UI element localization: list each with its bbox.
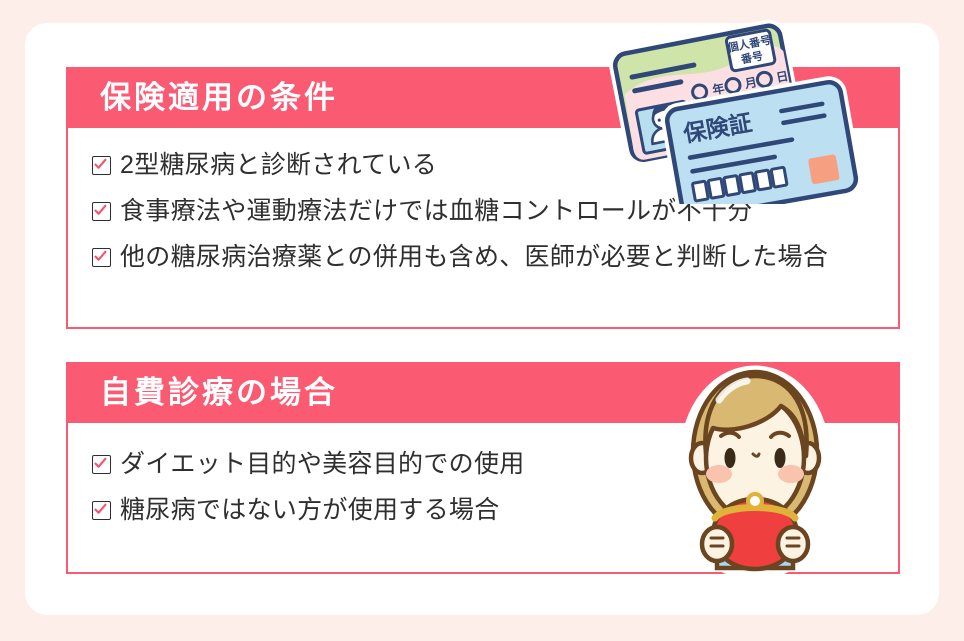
checkbox-checked-icon [92,501,111,520]
list-item-label: 他の糖尿病治療薬との併用も含め、医師が必要と判断した場合 [120,245,828,270]
list-item-label: ダイエット目的や美容目的での使用 [120,452,525,477]
svg-text:月: 月 [743,75,758,91]
checkbox-checked-icon [92,156,111,175]
checkbox-checked-icon [92,248,111,267]
section-title-selfpay: 自費診療の場合 [66,377,338,408]
list-item: 他の糖尿病治療薬との併用も含め、医師が必要と判断した場合 [92,234,898,280]
worried-woman-illustration [655,362,855,574]
id-cards-illustration: 個人番号 番号 年 月 日 保険証 [600,18,864,204]
list-item-label: 糖尿病ではない方が使用する場合 [120,498,500,523]
checkbox-checked-icon [92,455,111,474]
infographic-root: 保険適用の条件 2型糖尿病と診断されている [0,0,964,641]
list-item-label: 2型糖尿病と診断されている [120,153,437,178]
checkbox-checked-icon [92,202,111,221]
section-title-insurance: 保険適用の条件 [66,82,338,113]
